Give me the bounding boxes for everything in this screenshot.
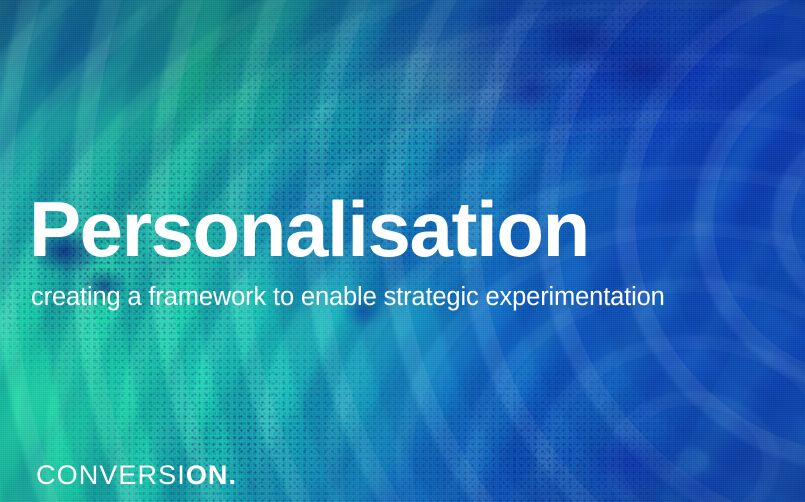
- slide-subtitle: creating a framework to enable strategic…: [31, 282, 665, 312]
- logo-bold-text: ON.: [186, 460, 237, 490]
- logo-light-text: CONVERSI: [36, 460, 186, 490]
- slide-title: Personalisation: [29, 186, 589, 272]
- conversion-logo: CONVERSION.: [36, 460, 237, 490]
- slide-content: Personalisation creating a framework to …: [0, 0, 805, 502]
- title-slide: Personalisation creating a framework to …: [0, 0, 805, 502]
